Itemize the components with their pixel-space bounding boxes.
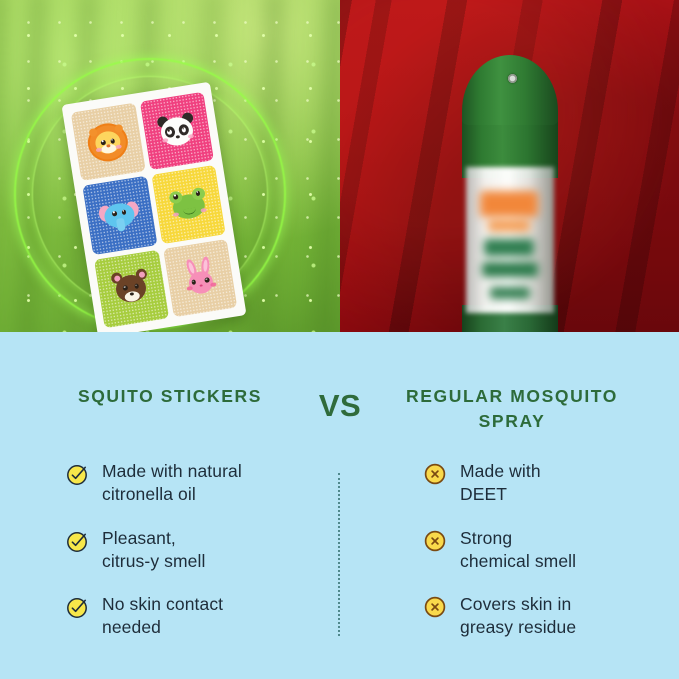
left-column-title: SQUITO STICKERS: [32, 384, 308, 409]
list-item-text: Pleasant, citrus-y smell: [102, 527, 206, 574]
frog-face-icon: [166, 184, 211, 226]
cross-circle-icon: [424, 463, 446, 485]
right-drawbacks-list: Made with DEET Strong chemical smell: [424, 460, 679, 640]
list-item: Strong chemical smell: [424, 527, 679, 574]
sticker-bunny: [163, 239, 238, 318]
sticker-lion: [71, 103, 146, 182]
list-item-text: Made with natural citronella oil: [102, 460, 242, 507]
sticker-bear: [94, 250, 169, 329]
sticker-frog: [151, 165, 226, 244]
vs-label: VS: [300, 390, 380, 421]
check-circle-icon: [66, 463, 88, 485]
list-item: Made with DEET: [424, 460, 679, 507]
check-circle-icon: [66, 530, 88, 552]
list-item: Covers skin in greasy residue: [424, 593, 679, 640]
can-label: [466, 167, 554, 313]
list-item: Made with natural citronella oil: [66, 460, 336, 507]
list-item-text: Strong chemical smell: [460, 527, 576, 574]
lion-face-icon: [85, 121, 130, 163]
right-product-photo: [340, 0, 679, 332]
column-divider: [338, 473, 342, 636]
spray-can-icon: [462, 55, 558, 332]
left-product-photo: [0, 0, 340, 332]
left-benefits-list: Made with natural citronella oil Pleasan…: [66, 460, 336, 640]
nozzle-hole-icon: [508, 74, 517, 83]
bear-face-icon: [109, 268, 154, 310]
hero-photo-band: [0, 0, 679, 332]
sticker-panda: [139, 92, 214, 171]
sticker-elephant: [82, 176, 157, 255]
cross-circle-icon: [424, 596, 446, 618]
infographic-page: SQUITO STICKERS VS REGULAR MOSQUITO SPRA…: [0, 0, 679, 679]
panda-face-icon: [154, 110, 199, 152]
check-circle-icon: [66, 596, 88, 618]
can-cap: [462, 55, 558, 125]
list-item-text: Covers skin in greasy residue: [460, 593, 576, 640]
elephant-face-icon: [97, 195, 142, 237]
list-item: No skin contact needed: [66, 593, 336, 640]
right-column-title: REGULAR MOSQUITO SPRAY: [374, 384, 650, 434]
column-headings: SQUITO STICKERS VS REGULAR MOSQUITO SPRA…: [0, 332, 679, 442]
list-item: Pleasant, citrus-y smell: [66, 527, 336, 574]
comparison-section: SQUITO STICKERS VS REGULAR MOSQUITO SPRA…: [0, 332, 679, 679]
list-item-text: No skin contact needed: [102, 593, 223, 640]
list-item-text: Made with DEET: [460, 460, 541, 507]
cross-circle-icon: [424, 530, 446, 552]
bunny-face-icon: [177, 257, 222, 299]
